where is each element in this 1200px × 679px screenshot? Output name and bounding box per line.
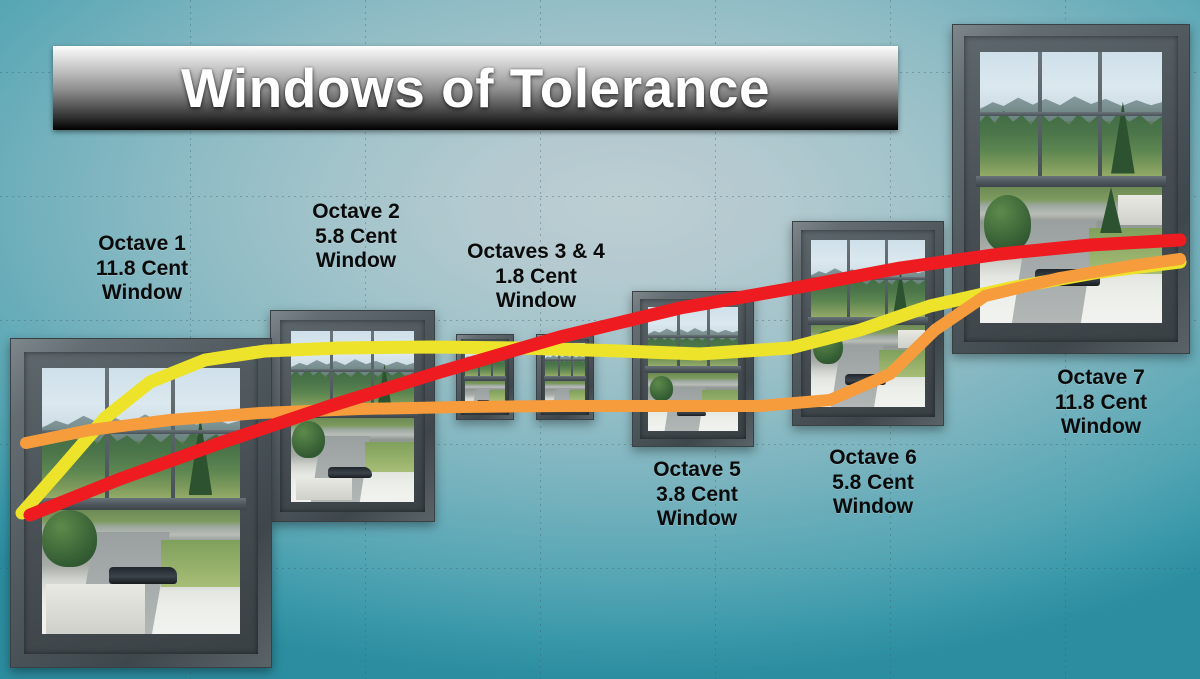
window-photo <box>792 221 944 426</box>
label-octave-7: Octave 7 11.8 Cent Window <box>1022 366 1180 440</box>
window-photo <box>10 338 272 668</box>
window-octave-3 <box>456 334 514 420</box>
window-sash-upper <box>291 331 414 410</box>
tree <box>813 330 843 364</box>
window-meeting-rail <box>808 317 928 325</box>
page-title: Windows of Tolerance <box>181 56 770 120</box>
window-photo <box>952 24 1190 354</box>
slide-canvas: Windows of Tolerance Octave 1 11.8 Cent … <box>0 0 1200 679</box>
muntin-horizontal <box>545 359 585 361</box>
window-sash-lower <box>545 381 585 412</box>
tree <box>984 195 1031 252</box>
window-sash-lower <box>465 381 505 412</box>
window-sash-upper <box>980 52 1162 176</box>
muntin-horizontal <box>980 112 1162 116</box>
window-octave-5 <box>632 291 754 447</box>
window-sash-lower <box>811 325 925 407</box>
car <box>557 400 571 404</box>
muntin-horizontal <box>811 277 925 280</box>
window-sash-lower <box>291 418 414 502</box>
house <box>46 584 145 634</box>
tree <box>292 421 325 458</box>
label-octave-1: Octave 1 11.8 Cent Window <box>62 232 222 306</box>
window-octave-1 <box>10 338 272 668</box>
lawn <box>879 350 925 378</box>
label-octave-2: Octave 2 5.8 Cent Window <box>276 200 436 274</box>
muntin-horizontal <box>648 335 738 338</box>
window-octave-7 <box>952 24 1190 354</box>
window-sash-lower <box>980 187 1162 323</box>
window-sash-lower <box>648 373 738 431</box>
lawn <box>702 390 738 410</box>
car <box>109 567 176 584</box>
window-meeting-rail <box>36 498 246 510</box>
muntin-horizontal <box>291 369 414 372</box>
label-octave-6: Octave 6 5.8 Cent Window <box>792 446 954 520</box>
label-octave-5: Octave 5 3.8 Cent Window <box>616 458 778 532</box>
window-meeting-rail <box>976 176 1166 187</box>
car <box>845 374 886 385</box>
lawn <box>1089 228 1162 274</box>
window-sash-upper <box>648 307 738 366</box>
car <box>1035 269 1101 287</box>
car <box>477 400 491 404</box>
window-sash-upper <box>811 240 925 317</box>
window-octave-4 <box>536 334 594 420</box>
car <box>677 409 706 417</box>
house <box>296 478 353 500</box>
window-sash-upper <box>42 368 240 498</box>
window-photo <box>456 334 514 420</box>
window-photo <box>632 291 754 447</box>
muntin-horizontal <box>465 359 505 361</box>
window-photo <box>536 334 594 420</box>
lawn <box>569 390 585 401</box>
tree <box>650 376 673 400</box>
window-octave-2 <box>270 310 435 522</box>
label-octave-3-4: Octaves 3 & 4 1.8 Cent Window <box>447 240 625 314</box>
muntin-horizontal <box>42 430 240 434</box>
tree <box>42 510 97 567</box>
window-photo <box>270 310 435 522</box>
car <box>328 467 372 479</box>
house <box>898 330 925 348</box>
window-octave-6 <box>792 221 944 426</box>
window-meeting-rail <box>645 366 741 373</box>
window-sash-lower <box>42 510 240 634</box>
house <box>1118 195 1162 225</box>
window-sash-upper <box>545 343 585 376</box>
window-meeting-rail <box>287 410 418 418</box>
lawn <box>489 390 505 401</box>
window-sash-upper <box>465 343 505 376</box>
title-banner: Windows of Tolerance <box>53 46 898 130</box>
lawn <box>365 442 414 472</box>
